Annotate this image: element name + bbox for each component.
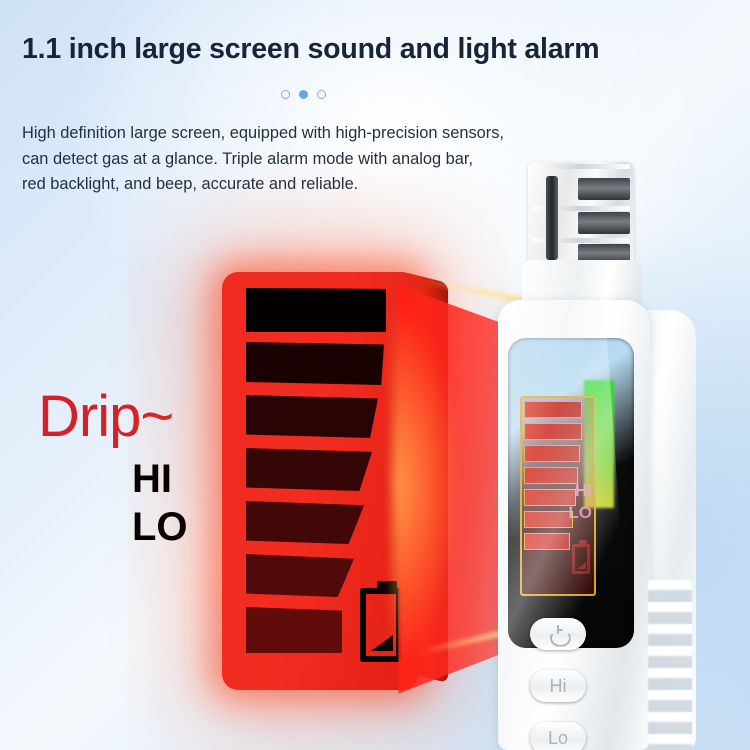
- lcd-bar-segment: [524, 467, 578, 484]
- panel-hi-label: HI: [132, 458, 172, 500]
- bar-segment: [246, 501, 364, 544]
- sensor-probe-icon: [528, 162, 634, 270]
- probe-vent-slot: [578, 178, 630, 200]
- lo-button[interactable]: Lo: [530, 722, 586, 750]
- hi-button[interactable]: Hi: [530, 670, 586, 702]
- bar-segment: [246, 448, 372, 491]
- bar-segment: [246, 288, 386, 332]
- screen-lcd-readout: HI LO: [520, 396, 596, 596]
- probe-ridge: [532, 164, 630, 169]
- power-button[interactable]: [530, 618, 586, 650]
- probe-vent-slot: [546, 176, 558, 260]
- panel-lo-label: LO: [132, 506, 188, 548]
- probe-vent-slot: [578, 212, 630, 234]
- gas-detector-device: HI LO Hi Lo: [486, 160, 716, 750]
- lcd-bar-segment: [524, 423, 582, 440]
- lcd-bar-segment: [524, 511, 573, 528]
- product-illustration: HI LO: [0, 0, 750, 750]
- lcd-bar-segment: [524, 533, 570, 550]
- lcd-bar-segment: [524, 445, 580, 462]
- bar-segment: [246, 554, 354, 597]
- beam-glow: [392, 300, 462, 670]
- lcd-hi-label: HI: [575, 482, 592, 500]
- device-grip-texture: [648, 580, 692, 750]
- bar-segment: [246, 395, 378, 438]
- bar-segment: [246, 607, 342, 653]
- power-icon: [550, 626, 567, 643]
- lcd-battery-low-icon: [572, 544, 590, 574]
- device-screen: HI LO: [508, 338, 634, 648]
- battery-fill-level: [371, 635, 393, 651]
- bar-segment: [246, 342, 384, 385]
- lcd-bar-segment: [524, 401, 582, 418]
- lcd-lo-label: LO: [568, 504, 592, 522]
